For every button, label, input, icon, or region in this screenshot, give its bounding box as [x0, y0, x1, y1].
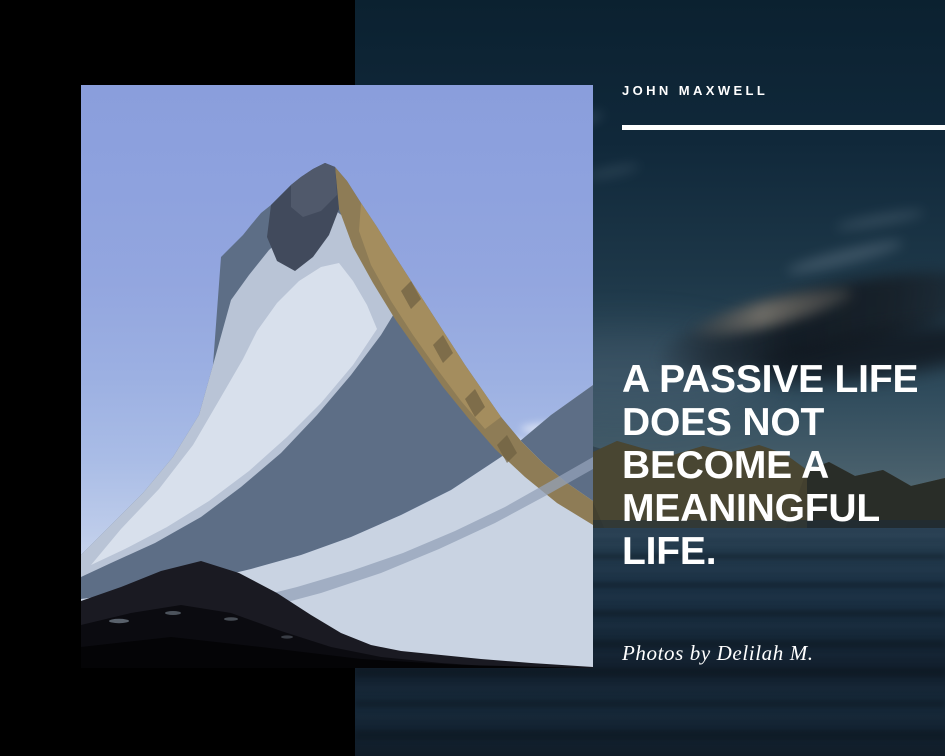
foreground-mountain-photo	[81, 85, 593, 668]
author-name: JOHN MAXWELL	[622, 82, 768, 100]
quote-poster: JOHN MAXWELL A PASSIVE LIFE DOES NOT BEC…	[0, 0, 945, 756]
divider-rule	[622, 125, 945, 130]
photo-credit: Photos by Delilah M.	[622, 641, 814, 666]
matterhorn-silhouette	[81, 85, 593, 668]
quote-text: A PASSIVE LIFE DOES NOT BECOME A MEANING…	[622, 358, 945, 573]
